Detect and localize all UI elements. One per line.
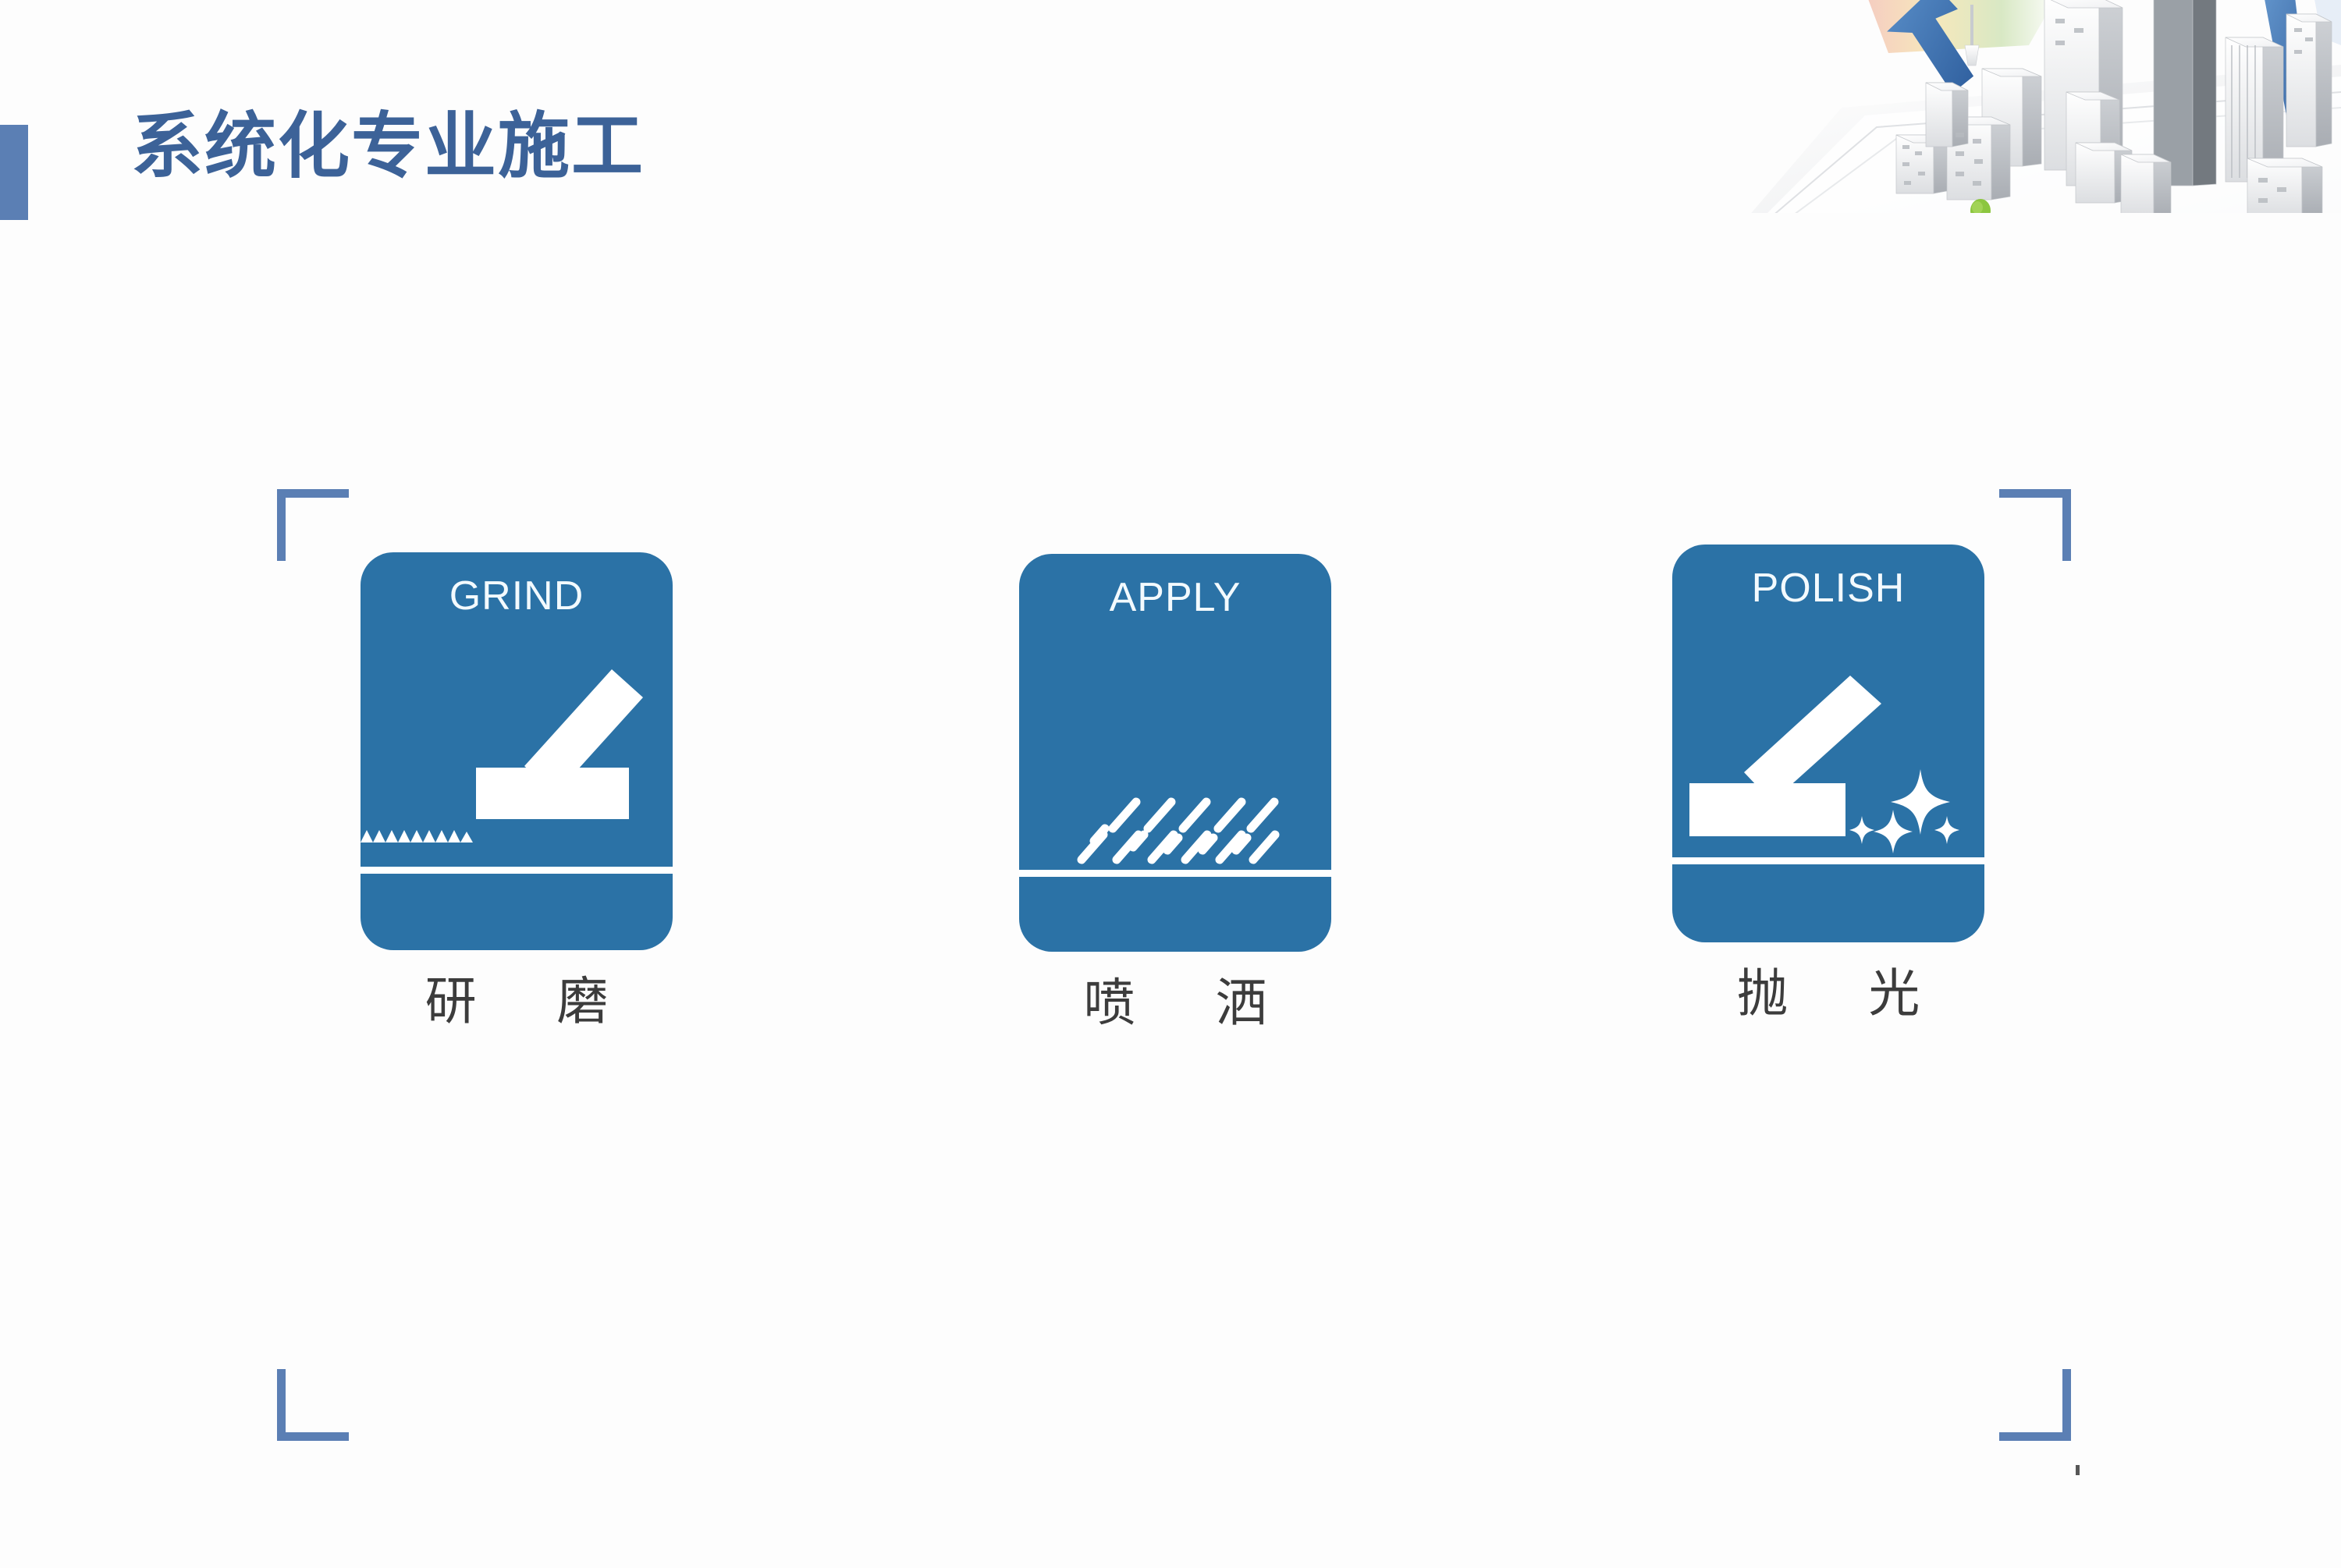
sparkle-stars <box>1849 769 1959 853</box>
step-label-grind: 研 磨 <box>361 974 673 1031</box>
card-title-apply: APPLY <box>1019 574 1331 621</box>
card-title-polish: POLISH <box>1672 565 1984 612</box>
step-card-grind[interactable]: GRIND <box>361 552 673 950</box>
card-title-grind: GRIND <box>361 573 673 619</box>
step-polish[interactable]: POLISH 抛 光 <box>1672 545 1984 1023</box>
step-label-polish: 抛 光 <box>1672 966 1984 1023</box>
step-grind[interactable]: GRIND 研 磨 <box>361 552 673 1031</box>
stray-dot-artifact <box>2076 1465 2080 1475</box>
step-apply[interactable]: APPLY 喷 洒 <box>1019 554 1331 1032</box>
step-label-apply: 喷 洒 <box>1019 975 1331 1032</box>
ground-divider-line <box>361 867 673 874</box>
step-card-polish[interactable]: POLISH <box>1672 545 1984 942</box>
process-steps: GRIND 研 磨 <box>0 0 2341 1568</box>
slide-canvas: 系统化专业施工 <box>0 0 2341 1568</box>
step-card-apply[interactable]: APPLY <box>1019 554 1331 952</box>
ground-divider-line <box>1019 870 1331 877</box>
ground-divider-line <box>1672 857 1984 864</box>
